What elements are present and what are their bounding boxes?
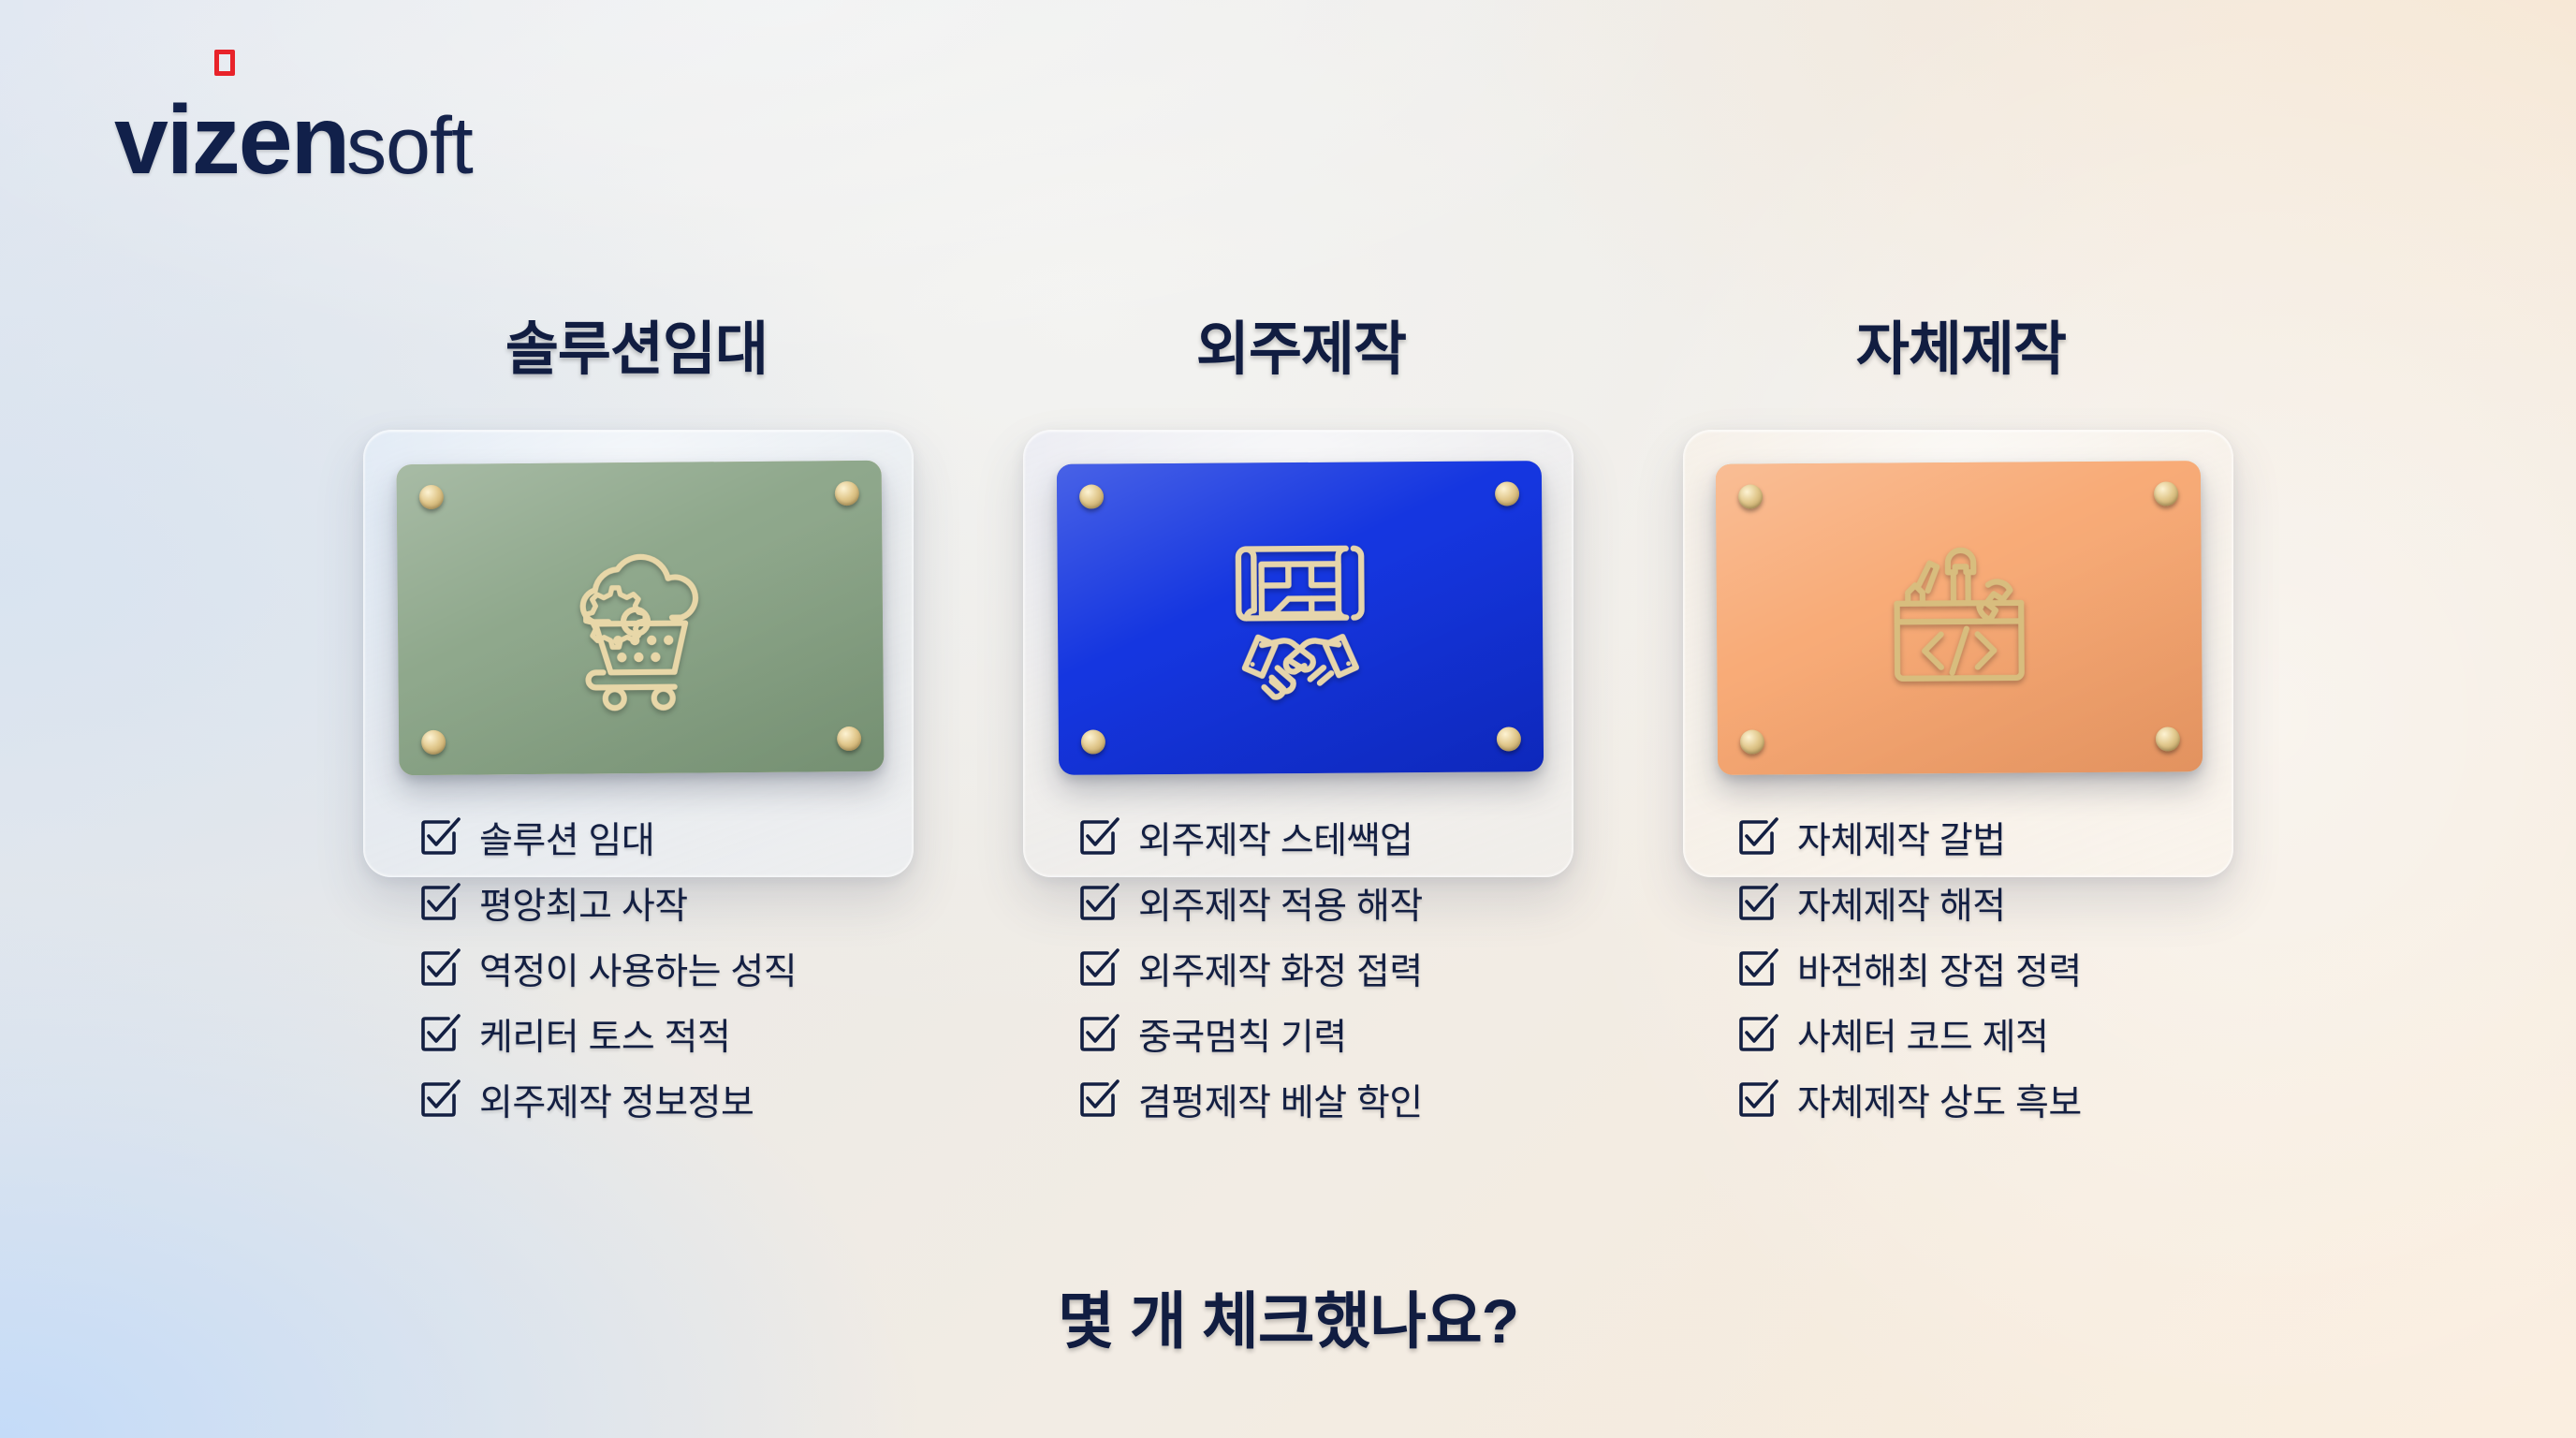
plaque-outsourcing[interactable] — [1057, 461, 1544, 775]
screw-icon — [837, 726, 861, 751]
screw-icon — [2154, 481, 2178, 506]
list-item[interactable]: 중국멈칙 기력 — [1078, 1002, 1565, 1067]
list-item[interactable]: 케리터 토스 적적 — [419, 1002, 906, 1067]
list-item-label: 겸펑제작 베살 학인 — [1138, 1074, 1423, 1126]
list-item[interactable]: 자체제작 상도 흑보 — [1737, 1067, 2224, 1133]
list-item[interactable]: 바전해최 장접 정력 — [1737, 936, 2224, 1002]
checkbox-checked-icon[interactable] — [1737, 1017, 1773, 1052]
list-item-label: 자체제작 갈법 — [1797, 812, 2006, 864]
brand-name-light: soft — [346, 106, 473, 186]
list-item[interactable]: 역정이 사용하는 성직 — [419, 936, 906, 1002]
list-item-label: 솔루션 임대 — [479, 812, 654, 864]
checkbox-checked-icon[interactable] — [1078, 951, 1114, 987]
list-item-label: 바전해최 장접 정력 — [1797, 943, 2082, 995]
checkbox-checked-icon[interactable] — [1737, 1082, 1773, 1118]
list-item[interactable]: 외주제작 적용 해작 — [1078, 871, 1565, 936]
list-item-label: 사체터 코드 제적 — [1797, 1008, 2048, 1061]
list-item-label: 평앙최고 사작 — [479, 877, 688, 930]
list-item[interactable]: 사체터 코드 제적 — [1737, 1002, 2224, 1067]
screw-icon — [1738, 484, 1763, 508]
list-item-label: 역정이 사용하는 성직 — [479, 943, 797, 995]
list-item-label: 중국멈칙 기력 — [1138, 1008, 1347, 1061]
toolbox-code-icon — [1867, 526, 2051, 710]
checklist-inhouse: 자체제작 갈법 자체제작 해적 바전해최 장접 정력 — [1737, 805, 2224, 1133]
checkbox-checked-icon[interactable] — [1078, 886, 1114, 921]
list-item[interactable]: 자체제작 해적 — [1737, 871, 2224, 936]
card-title-outsourcing: 외주제작 — [1030, 301, 1573, 386]
list-item[interactable]: 솔루션 임대 — [419, 805, 906, 871]
checkbox-checked-icon[interactable] — [1737, 886, 1773, 921]
checkbox-checked-icon[interactable] — [419, 820, 455, 856]
checkbox-checked-icon[interactable] — [419, 1017, 455, 1052]
screw-icon — [421, 730, 446, 755]
list-item[interactable]: 자체제작 갈법 — [1737, 805, 2224, 871]
list-item[interactable]: 겸펑제작 베살 학인 — [1078, 1067, 1565, 1133]
cloud-gear-shopping-cart-icon — [546, 523, 735, 712]
list-item[interactable]: 외주제작 정보정보 — [419, 1067, 906, 1133]
list-item-label: 외주제작 정보정보 — [479, 1074, 754, 1126]
screw-icon — [1495, 481, 1519, 506]
plaque-inhouse[interactable] — [1716, 461, 2203, 775]
screw-icon — [1079, 484, 1104, 508]
footer-question: 몇 개 체크했나요? — [0, 1271, 2576, 1361]
screw-icon — [835, 481, 859, 506]
list-item-label: 외주제작 스테쌕업 — [1138, 812, 1412, 864]
checkbox-checked-icon[interactable] — [1078, 1017, 1114, 1052]
plaque-solution-rental[interactable] — [397, 461, 885, 776]
screw-icon — [1497, 726, 1521, 751]
screw-icon — [1081, 729, 1105, 754]
checkbox-checked-icon[interactable] — [1737, 820, 1773, 856]
list-item-label: 자체제작 해적 — [1797, 877, 2006, 930]
brand-logo: vizen soft — [114, 92, 473, 189]
list-item[interactable]: 외주제작 스테쌕업 — [1078, 805, 1565, 871]
screw-icon — [2156, 726, 2180, 751]
screw-icon — [1740, 729, 1764, 754]
checklist-outsourcing: 외주제작 스테쌕업 외주제작 적용 해작 외주제작 화정 접력 — [1078, 805, 1565, 1133]
list-item-label: 케리터 토스 적적 — [479, 1008, 730, 1061]
brand-name-bold: vizen — [114, 92, 348, 189]
card-title-inhouse: 자체제작 — [1690, 301, 2232, 386]
checkbox-checked-icon[interactable] — [1078, 820, 1114, 856]
card-title-solution-rental: 솔루션임대 — [365, 301, 908, 386]
checklist-solution-rental: 솔루션 임대 평앙최고 사작 역정이 사용하는 성직 — [419, 805, 906, 1133]
blueprint-handshake-icon — [1204, 521, 1397, 714]
checkbox-checked-icon[interactable] — [419, 1082, 455, 1118]
list-item-label: 외주제작 적용 해작 — [1138, 877, 1423, 930]
list-item-label: 외주제작 화정 접력 — [1138, 943, 1423, 995]
checkbox-checked-icon[interactable] — [419, 886, 455, 921]
checkbox-checked-icon[interactable] — [1737, 951, 1773, 987]
checkbox-checked-icon[interactable] — [1078, 1082, 1114, 1118]
screw-icon — [419, 485, 444, 509]
poster-canvas: vizen soft 솔루션임대 외주제작 자체제작 — [0, 0, 2576, 1438]
list-item-label: 자체제작 상도 흑보 — [1797, 1074, 2082, 1126]
checkbox-checked-icon[interactable] — [419, 951, 455, 987]
list-item[interactable]: 외주제작 화정 접력 — [1078, 936, 1565, 1002]
list-item[interactable]: 평앙최고 사작 — [419, 871, 906, 936]
red-square-outline-icon — [214, 50, 235, 76]
